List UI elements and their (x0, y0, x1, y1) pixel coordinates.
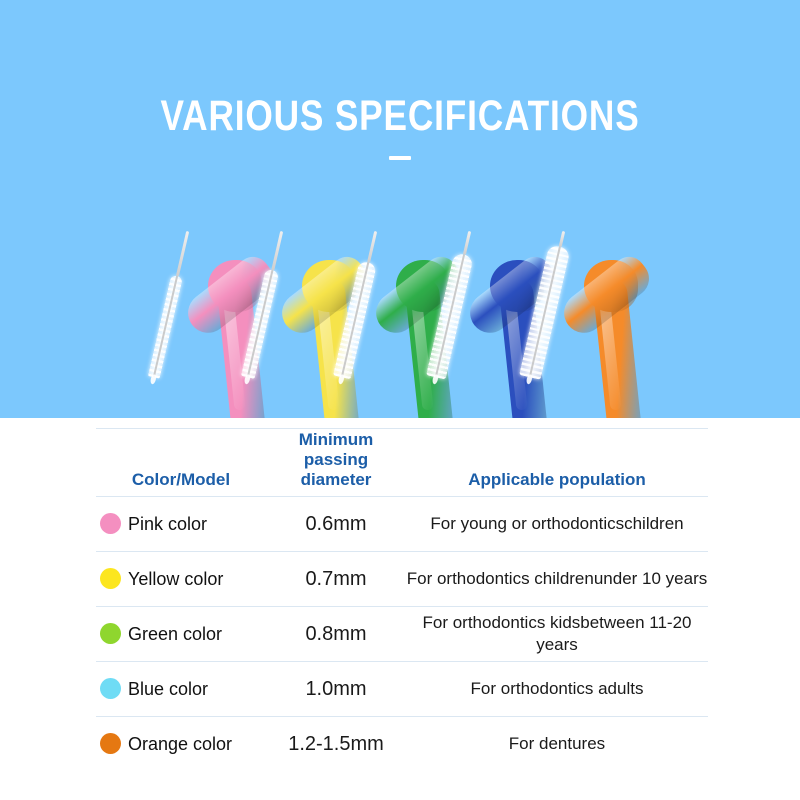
cell-applicable-population: For orthodontics adults (406, 661, 708, 716)
color-swatch-dot (100, 733, 121, 754)
column-header-min-diameter: Minimum passing diameter (266, 430, 406, 496)
table-row-divider (96, 606, 708, 607)
cell-color-model: Pink color (96, 496, 266, 551)
hero-banner: VARIOUS SPECIFICATIONS (0, 0, 800, 418)
table-row: Yellow color0.7mmFor orthodontics childr… (96, 551, 708, 606)
brush-wire (367, 231, 377, 263)
color-name-label: Blue color (128, 678, 208, 700)
color-name-label: Pink color (128, 513, 207, 535)
specifications-table: Color/Model Minimum passing diameter App… (96, 430, 708, 771)
brush-bristle-head (143, 229, 198, 380)
cell-min-diameter: 1.0mm (266, 661, 406, 716)
page-title: VARIOUS SPECIFICATIONS (72, 92, 728, 141)
orange-brush (554, 218, 724, 418)
table-row-divider (96, 716, 708, 717)
cell-color-model: Orange color (96, 716, 266, 771)
color-name-label: Green color (128, 623, 222, 645)
table-row-divider (96, 496, 708, 497)
table-top-rule (96, 428, 708, 429)
product-infographic: VARIOUS SPECIFICATIONS Color/Model Minim… (0, 0, 800, 800)
brush-wire (559, 231, 565, 247)
header-line: Applicable population (468, 470, 646, 489)
table-header: Color/Model Minimum passing diameter App… (96, 430, 708, 496)
color-swatch-dot (100, 513, 121, 534)
cell-min-diameter: 0.6mm (266, 496, 406, 551)
cell-color-model: Green color (96, 606, 266, 661)
cell-applicable-population: For orthodontics kidsbetween 11-20 years (406, 606, 708, 661)
brush-wire (176, 231, 189, 276)
column-header-color-model: Color/Model (96, 430, 266, 496)
header-line: Minimum passing (299, 430, 374, 469)
color-swatch-dot (100, 623, 121, 644)
table-row-divider (96, 661, 708, 662)
brush-wire (463, 231, 471, 255)
brush-wire (271, 231, 282, 271)
title-divider-dash (389, 156, 411, 160)
column-header-applicable-population: Applicable population (406, 430, 708, 496)
cell-color-model: Blue color (96, 661, 266, 716)
cell-color-model: Yellow color (96, 551, 266, 606)
color-swatch-dot (100, 678, 121, 699)
header-line: Color/Model (132, 470, 230, 489)
cell-min-diameter: 0.8mm (266, 606, 406, 661)
cell-applicable-population: For dentures (406, 716, 708, 771)
color-name-label: Orange color (128, 733, 232, 755)
table-row: Green color0.8mmFor orthodontics kidsbet… (96, 606, 708, 661)
cell-applicable-population: For young or orthodonticschildren (406, 496, 708, 551)
brush-tip (150, 374, 157, 385)
brush-wire-core (153, 276, 178, 378)
cell-min-diameter: 1.2-1.5mm (266, 716, 406, 771)
color-swatch-dot (100, 568, 121, 589)
cell-applicable-population: For orthodontics childrenunder 10 years (406, 551, 708, 606)
specifications-table-section: Color/Model Minimum passing diameter App… (0, 418, 800, 800)
table-row: Orange color1.2-1.5mmFor dentures (96, 716, 708, 771)
cell-min-diameter: 0.7mm (266, 551, 406, 606)
table-row-divider (96, 551, 708, 552)
table-body: Pink color0.6mmFor young or orthodontics… (96, 496, 708, 771)
table-row: Pink color0.6mmFor young or orthodontics… (96, 496, 708, 551)
color-name-label: Yellow color (128, 568, 223, 590)
header-line: diameter (301, 470, 372, 489)
table-row: Blue color1.0mmFor orthodontics adults (96, 661, 708, 716)
